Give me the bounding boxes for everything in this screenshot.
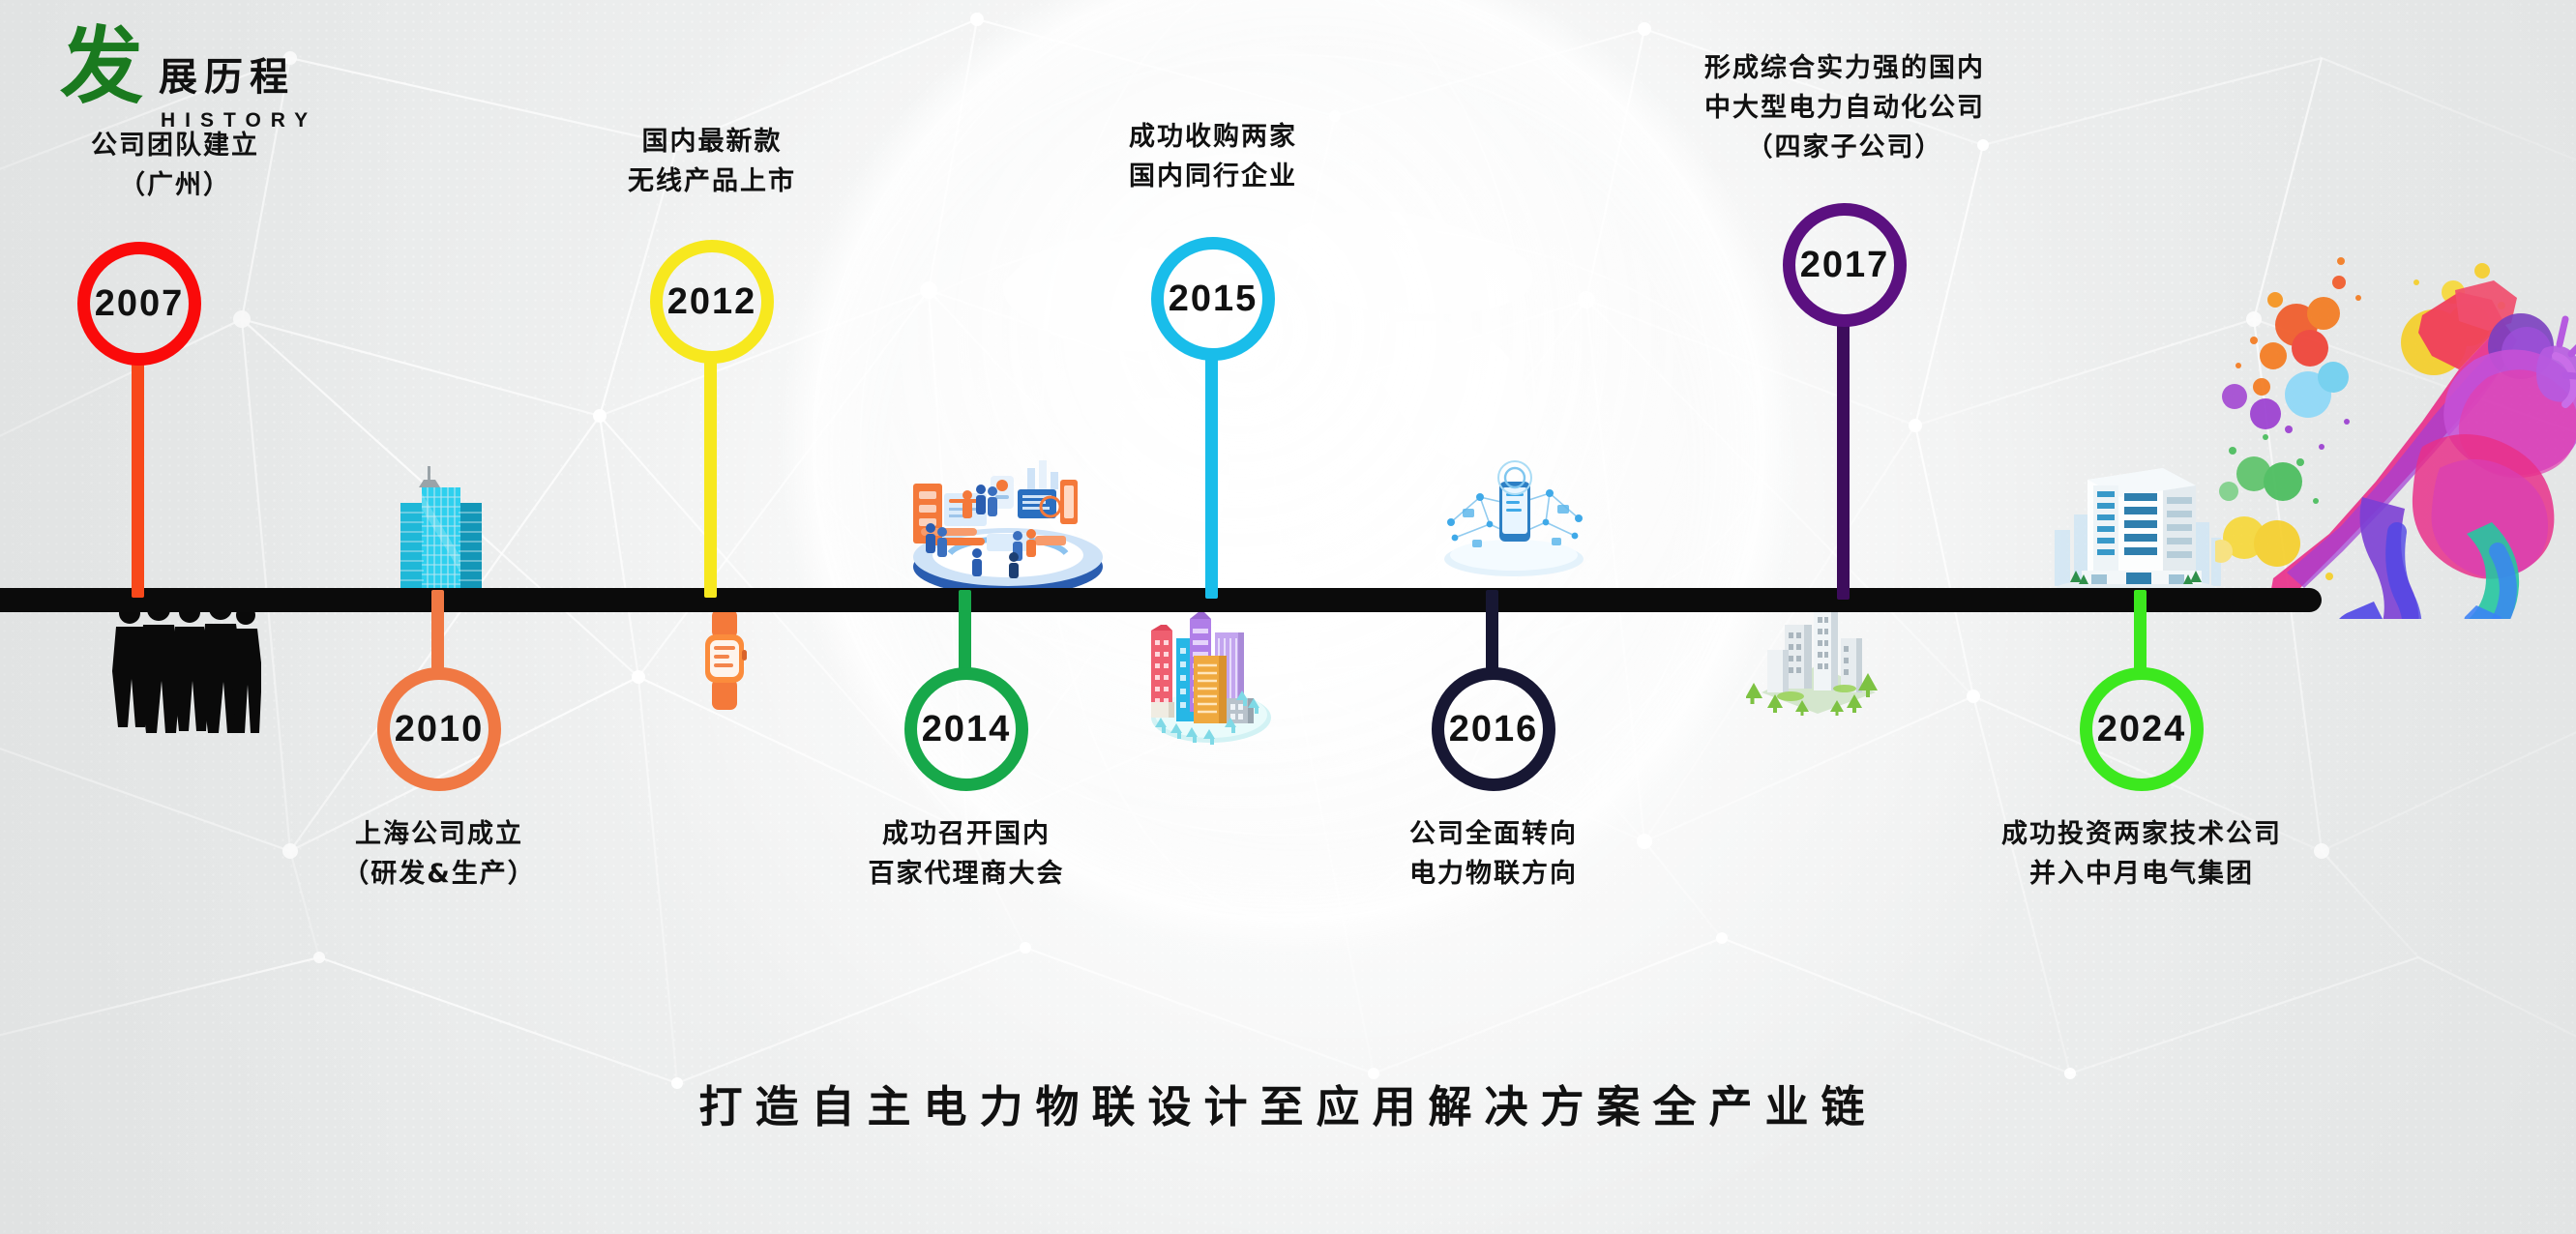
milestone-2012-ring[interactable]: 2012 <box>650 240 774 364</box>
caption-line: 上海公司成立 <box>315 814 563 854</box>
milestone-2010-ring[interactable]: 2010 <box>377 667 501 791</box>
caption-line: 成功投资两家技术公司 <box>1950 814 2333 854</box>
title-accent-char: 发 <box>60 25 143 108</box>
green-eco-city-blocks <box>1746 600 1891 716</box>
caption-line: 公司团队建立 <box>44 126 306 165</box>
milestone-2014-stem <box>959 590 971 677</box>
isometric-colorful-city <box>1134 598 1288 762</box>
milestone-2015-caption: 成功收购两家 国内同行企业 <box>1080 117 1347 196</box>
page-title: 发 展历程 HISTORY <box>60 33 466 139</box>
milestone-2016-stem <box>1486 590 1498 677</box>
caption-line: 国内最新款 <box>578 122 845 162</box>
milestone-2016-caption: 公司全面转向 电力物联方向 <box>1370 814 1617 894</box>
title-rest: 展历程 <box>159 58 295 97</box>
business-team-silhouette <box>106 598 261 733</box>
footer-tagline: 打造自主电力物联设计至应用解决方案全产业链 <box>0 1072 2576 1134</box>
caption-line: 百家代理商大会 <box>819 854 1113 894</box>
caption-line: 无线产品上市 <box>578 162 845 201</box>
caption-line: （研发&生产） <box>315 854 563 894</box>
caption-line: 成功召开国内 <box>819 814 1113 854</box>
caption-line: （四家子公司） <box>1599 128 2090 167</box>
timeline-axis <box>0 588 2322 612</box>
isometric-conference-platform <box>861 453 1151 598</box>
milestone-2010-caption: 上海公司成立 （研发&生产） <box>315 814 563 894</box>
infographic-canvas: 发 展历程 HISTORY <box>0 0 2576 1234</box>
milestone-2017-ring[interactable]: 2017 <box>1783 203 1907 327</box>
orange-smartwatch <box>695 607 755 712</box>
milestone-2012-caption: 国内最新款 无线产品上市 <box>578 122 845 201</box>
iot-smartphone-network <box>1422 455 1606 585</box>
milestone-2007-caption: 公司团队建立 （广州） <box>44 126 306 205</box>
milestone-2015-year: 2015 <box>1169 279 1258 320</box>
milestone-2015-ring[interactable]: 2015 <box>1151 237 1275 361</box>
milestone-2014-caption: 成功召开国内 百家代理商大会 <box>819 814 1113 894</box>
milestone-2024-stem <box>2134 590 2147 677</box>
milestone-2014-year: 2014 <box>922 709 1012 750</box>
caption-line: （广州） <box>44 165 306 205</box>
milestone-2007-ring[interactable]: 2007 <box>77 242 201 366</box>
milestone-2016-ring[interactable]: 2016 <box>1432 667 1555 791</box>
milestone-2010-stem <box>431 590 444 677</box>
milestone-2017-caption: 形成综合实力强的国内 中大型电力自动化公司 （四家子公司） <box>1599 48 2090 167</box>
milestone-2012-year: 2012 <box>667 281 757 323</box>
watercolor-running-athlete <box>2215 232 2576 619</box>
caption-line: 成功收购两家 <box>1080 117 1347 157</box>
milestone-2016-year: 2016 <box>1449 709 1539 750</box>
milestone-2007-stem <box>132 356 144 598</box>
milestone-2007-year: 2007 <box>95 283 185 325</box>
milestone-2014-ring[interactable]: 2014 <box>904 667 1028 791</box>
white-office-headquarters <box>2049 453 2223 600</box>
milestone-2024-ring[interactable]: 2024 <box>2080 667 2204 791</box>
milestone-2012-stem <box>704 354 717 598</box>
caption-line: 并入中月电气集团 <box>1950 854 2333 894</box>
milestone-2024-year: 2024 <box>2097 709 2187 750</box>
milestone-2015-stem <box>1205 351 1218 599</box>
cyan-skyscraper <box>395 464 488 592</box>
milestone-2010-year: 2010 <box>395 709 485 750</box>
caption-line: 形成综合实力强的国内 <box>1599 48 2090 88</box>
caption-line: 国内同行企业 <box>1080 157 1347 196</box>
milestone-2024-caption: 成功投资两家技术公司 并入中月电气集团 <box>1950 814 2333 894</box>
caption-line: 公司全面转向 <box>1370 814 1617 854</box>
milestone-2017-year: 2017 <box>1800 245 1890 286</box>
caption-line: 中大型电力自动化公司 <box>1599 88 2090 128</box>
caption-line: 电力物联方向 <box>1370 854 1617 894</box>
milestone-2017-stem <box>1837 317 1850 600</box>
